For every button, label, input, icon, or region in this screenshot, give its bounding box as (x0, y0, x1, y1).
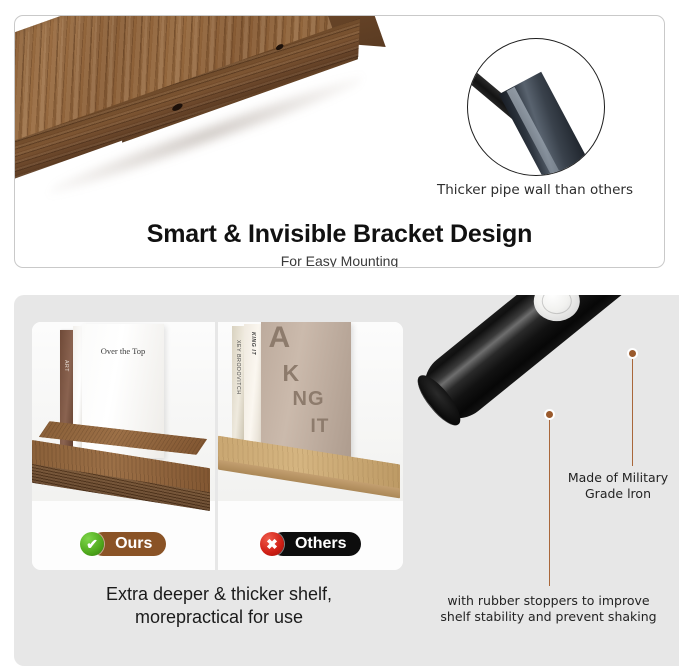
x-circle-icon: ✖ (260, 532, 284, 556)
pipe-open-end (411, 369, 467, 431)
book-title-making-it-line2: K (283, 360, 301, 387)
badge-row-others: ✖ Others (218, 532, 404, 556)
leader-line-rubber (549, 418, 550, 586)
callout-military-grade-iron: Made of Military Grade lron (557, 470, 679, 502)
comparison-caption-line1: Extra deeper & thicker shelf, (24, 583, 414, 606)
badge-ours: ✔ Ours (80, 532, 166, 556)
comparison-panel-ours: ART Over the Top ASSOULINE ✔ Ours (32, 322, 218, 570)
callout-dot-iron (627, 348, 638, 359)
book-title-making-it-line4: IT (311, 416, 330, 438)
bracket-design-card: Thicker pipe wall than others Smart & In… (14, 15, 665, 268)
badge-others: ✖ Others (260, 532, 361, 556)
comparison-caption: Extra deeper & thicker shelf, morepracti… (24, 583, 414, 628)
comparison-caption-line2: morepractical for use (24, 606, 414, 629)
callout-rubber-line2: shelf stability and prevent shaking (418, 609, 679, 625)
pipe-wall-magnifier (467, 38, 605, 176)
callout-rubber-line1: with rubber stoppers to improve (418, 593, 679, 609)
page-title: Smart & Invisible Bracket Design (15, 220, 664, 249)
floating-shelf-image (14, 15, 419, 224)
badge-row-ours: ✔ Ours (32, 532, 215, 556)
callout-rubber-stoppers: with rubber stoppers to improve shelf st… (418, 593, 679, 625)
book-making-it-cover: A K NG IT (261, 322, 351, 458)
book-title-making-it-line3: NG (293, 388, 325, 411)
book-title-over-the-top: Over the Top (82, 346, 164, 356)
book-title-making-it: A (269, 324, 292, 353)
page-subtitle: For Easy Mounting (15, 253, 664, 268)
ours-vs-others-card: ART Over the Top ASSOULINE ✔ Ours (32, 322, 403, 570)
leader-line-iron (632, 358, 633, 466)
check-circle-icon: ✔ (80, 532, 104, 556)
callout-dot-rubber (544, 409, 555, 420)
badge-label-others: Others (271, 532, 361, 556)
comparison-panel-others: XEY BRODOVITCH KING IT A K NG IT ✖ (218, 322, 404, 570)
book-brodovitch-spine: XEY BRODOVITCH (232, 326, 244, 456)
book-making-it-spine: KING IT (244, 324, 261, 456)
rubber-stopper-ring (542, 295, 572, 314)
pipe-wall-caption: Thicker pipe wall than others (415, 182, 655, 198)
rubber-stopper (534, 295, 580, 321)
